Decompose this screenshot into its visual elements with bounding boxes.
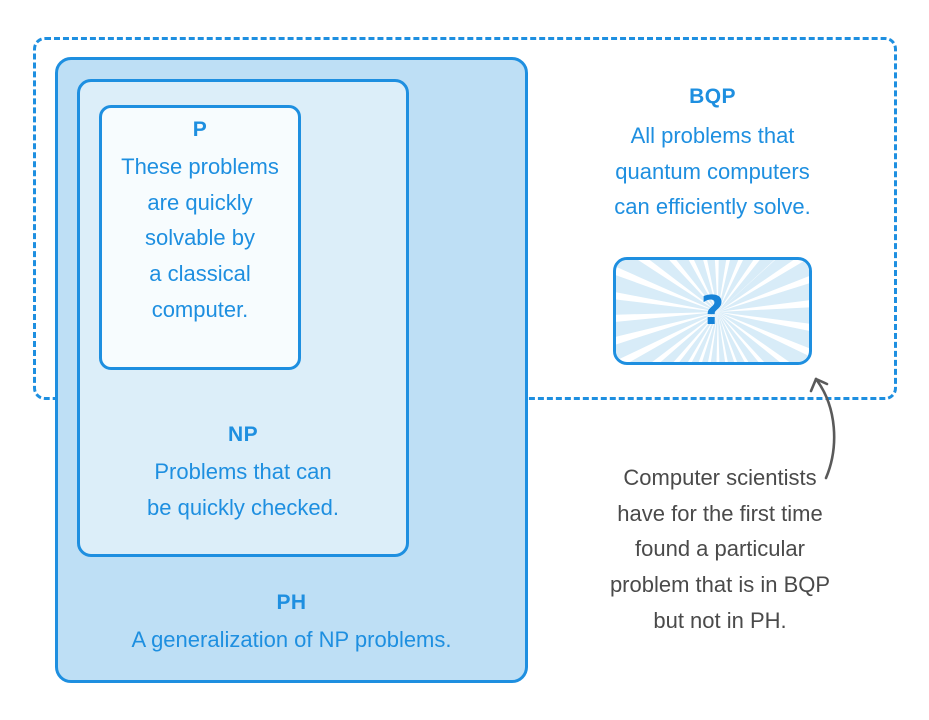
p-description-line-1: These problems [99, 149, 301, 185]
diagram-canvas: P These problems are quickly solvable by… [0, 0, 929, 720]
ph-description-line-1: A generalization of NP problems. [55, 622, 528, 658]
caption-line-2: have for the first time [580, 496, 860, 532]
ph-heading: PH [55, 586, 528, 620]
mystery-problem-box: ? [613, 257, 812, 365]
p-description-line-3: solvable by [99, 220, 301, 256]
bqp-label-group: BQP All problems that quantum computers … [565, 80, 860, 225]
np-description-line-2: be quickly checked. [77, 490, 409, 526]
caption-line-1: Computer scientists [580, 460, 860, 496]
bqp-description-line-2: quantum computers [565, 154, 860, 190]
bqp-description-line-3: can efficiently solve. [565, 189, 860, 225]
ph-label-group: PH A generalization of NP problems. [55, 586, 528, 658]
question-mark-icon: ? [616, 260, 809, 362]
p-label-group: P These problems are quickly solvable by… [99, 113, 301, 327]
np-heading: NP [77, 418, 409, 452]
p-description-line-5: computer. [99, 292, 301, 328]
bqp-heading: BQP [565, 80, 860, 114]
caption-line-3: found a particular [580, 531, 860, 567]
p-description-line-4: a classical [99, 256, 301, 292]
np-description-line-1: Problems that can [77, 454, 409, 490]
caption-line-5: but not in PH. [580, 603, 860, 639]
bqp-description-line-1: All problems that [565, 118, 860, 154]
annotation-caption: Computer scientists have for the first t… [580, 460, 860, 638]
caption-line-4: problem that is in BQP [580, 567, 860, 603]
np-label-group: NP Problems that can be quickly checked. [77, 418, 409, 525]
p-heading: P [99, 113, 301, 147]
p-description-line-2: are quickly [99, 185, 301, 221]
